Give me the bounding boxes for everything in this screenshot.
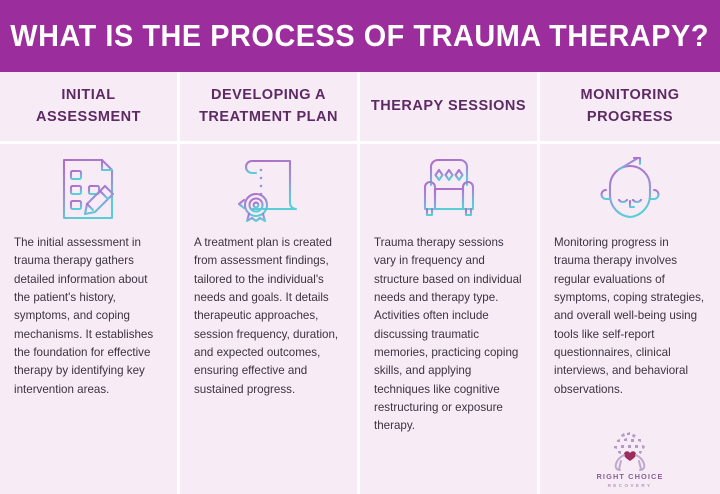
column-grid: INITIAL ASSESSMENT bbox=[0, 72, 720, 494]
infographic-root: WHAT IS THE PROCESS OF TRAUMA THERAPY? I… bbox=[0, 0, 720, 494]
column-header-3: THERAPY SESSIONS bbox=[360, 72, 537, 144]
column-body-3: Trauma therapy sessions vary in frequenc… bbox=[360, 234, 537, 494]
column-body-text: Monitoring progress in trauma therapy in… bbox=[554, 234, 706, 399]
head-bar-chart-icon bbox=[540, 144, 720, 234]
column-body-text: A treatment plan is created from assessm… bbox=[194, 234, 343, 399]
column-heading-text: MONITORING PROGRESS bbox=[548, 85, 712, 127]
column-initial-assessment: INITIAL ASSESSMENT bbox=[0, 72, 180, 494]
page-title: WHAT IS THE PROCESS OF TRAUMA THERAPY? bbox=[11, 18, 710, 54]
column-developing-treatment-plan: DEVELOPING A TREATMENT PLAN bbox=[180, 72, 360, 494]
header-bar: WHAT IS THE PROCESS OF TRAUMA THERAPY? bbox=[0, 0, 720, 72]
column-heading-text: INITIAL ASSESSMENT bbox=[8, 85, 169, 127]
column-header-4: MONITORING PROGRESS bbox=[540, 72, 720, 144]
column-body-2: A treatment plan is created from assessm… bbox=[180, 234, 357, 494]
column-header-2: DEVELOPING A TREATMENT PLAN bbox=[180, 72, 357, 144]
column-body-text: The initial assessment in trauma therapy… bbox=[14, 234, 163, 399]
column-header-1: INITIAL ASSESSMENT bbox=[0, 72, 177, 144]
column-heading-text: DEVELOPING A TREATMENT PLAN bbox=[188, 85, 349, 127]
column-therapy-sessions: THERAPY SESSIONS bbox=[360, 72, 540, 494]
scroll-award-seal-icon bbox=[180, 144, 357, 234]
document-flowchart-pencil-icon bbox=[0, 144, 177, 234]
logo-name: RIGHT CHOICE bbox=[597, 472, 664, 481]
armchair-icon bbox=[360, 144, 537, 234]
column-body-text: Trauma therapy sessions vary in frequenc… bbox=[374, 234, 523, 435]
column-heading-text: THERAPY SESSIONS bbox=[371, 96, 526, 117]
brand-logo: RIGHT CHOICE RECOVERY bbox=[540, 431, 720, 488]
column-body-1: The initial assessment in trauma therapy… bbox=[0, 234, 177, 494]
hands-heart-butterflies-icon bbox=[604, 431, 656, 471]
column-monitoring-progress: MONITORING PROGRESS bbox=[540, 72, 720, 494]
logo-subtitle: RECOVERY bbox=[608, 483, 653, 488]
